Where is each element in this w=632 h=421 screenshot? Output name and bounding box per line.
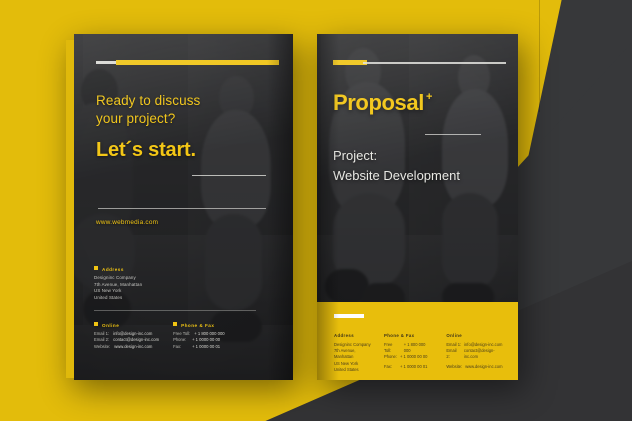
address-line: United States bbox=[94, 295, 279, 302]
online-heading: Online bbox=[94, 322, 159, 328]
project-name: Website Development bbox=[333, 166, 460, 186]
footer-phone-row: Fax: + 1 0000 00 01 bbox=[384, 364, 433, 370]
brochure-right-page: Proposal+ Project: Website Development A… bbox=[317, 34, 518, 380]
footer-online-key: Email 2: bbox=[446, 348, 461, 360]
proposal-title: Proposal+ bbox=[333, 90, 432, 116]
headline-line-2: your project? bbox=[96, 110, 277, 128]
address-line: US New York bbox=[94, 288, 279, 295]
online-key: Website: bbox=[94, 344, 110, 350]
footer-online-column: Online Email 1: info@design-inc.com Emai… bbox=[446, 333, 508, 373]
left-page-fold-shadow bbox=[267, 34, 293, 380]
right-page-top-rule bbox=[333, 60, 506, 65]
left-page-content: Ready to discuss your project? Let´s sta… bbox=[74, 34, 293, 380]
footer-online-row: Website: www.design-inc.com bbox=[446, 364, 508, 370]
right-page-content: Proposal+ Project: Website Development A… bbox=[317, 34, 518, 380]
phone-column: Phone & Fax Free Toll: + 1 800 000 000 P… bbox=[173, 322, 225, 350]
address-line: 7th Avenue, Manhattan bbox=[94, 282, 279, 289]
footer-phone-key: Free Toll: bbox=[384, 342, 401, 354]
online-heading-label: Online bbox=[102, 323, 119, 328]
contact-divider bbox=[94, 310, 256, 311]
footer-phone-value: + 1 0000 00 01 bbox=[400, 364, 427, 370]
footer-phone-value: + 1 0000 00 00 bbox=[400, 354, 427, 360]
footer-phone-key: Phone: bbox=[384, 354, 397, 360]
background-seam-line bbox=[539, 0, 540, 112]
right-page-fold-shadow bbox=[317, 34, 339, 380]
footer-online-row: Email 2: contact@design-inc.com bbox=[446, 348, 508, 360]
headline-emphasis: Let´s start. bbox=[96, 139, 277, 161]
footer-columns: Address Designinc Company 7th Avenue, Ma… bbox=[334, 333, 508, 373]
footer-address-line: United States bbox=[334, 367, 371, 373]
footer-address-heading: Address bbox=[334, 333, 371, 338]
left-page-headline: Ready to discuss your project? Let´s sta… bbox=[96, 92, 277, 161]
plus-icon: + bbox=[426, 91, 432, 103]
headline-rule bbox=[192, 175, 266, 176]
project-block: Project: Website Development bbox=[333, 146, 460, 186]
footer-online-key: Website: bbox=[446, 364, 462, 370]
right-page-footer: Address Designinc Company 7th Avenue, Ma… bbox=[317, 302, 518, 380]
brochure-left-page: Ready to discuss your project? Let´s sta… bbox=[74, 34, 293, 380]
left-page-top-rule bbox=[96, 60, 279, 65]
phone-key: Fax: bbox=[173, 344, 188, 350]
footer-phone-column: Phone & Fax Free Toll: + 1 800 000 000 P… bbox=[384, 333, 433, 373]
footer-address-column: Address Designinc Company 7th Avenue, Ma… bbox=[334, 333, 371, 373]
footer-phone-row: Free Toll: + 1 800 000 000 bbox=[384, 342, 433, 354]
bullet-square-icon bbox=[173, 322, 177, 326]
project-label: Project: bbox=[333, 146, 460, 166]
footer-phone-key: Fax: bbox=[384, 364, 397, 370]
bullet-square-icon bbox=[94, 266, 98, 270]
footer-phone-heading: Phone & Fax bbox=[384, 333, 433, 338]
phone-value: + 1 0000 00 01 bbox=[192, 344, 220, 350]
phone-heading: Phone & Fax bbox=[173, 322, 225, 328]
left-page-contact-block: Address Designinc Company 7th Avenue, Ma… bbox=[94, 266, 279, 301]
proposal-title-text: Proposal bbox=[333, 90, 424, 115]
footer-online-value[interactable]: www.design-inc.com bbox=[465, 364, 502, 370]
footer-address-line: 7th Avenue, Manhattan bbox=[334, 348, 371, 360]
contact-columns: Online Email 1: info@design-inc.com Emai… bbox=[94, 322, 284, 350]
headline-line-1: Ready to discuss bbox=[96, 92, 277, 110]
website-url[interactable]: www.webmedia.com bbox=[96, 219, 158, 226]
footer-phone-row: Phone: + 1 0000 00 00 bbox=[384, 354, 433, 360]
address-line: Designinc Company bbox=[94, 275, 279, 282]
footer-online-heading: Online bbox=[446, 333, 508, 338]
headline-rule-secondary bbox=[98, 208, 266, 209]
address-heading-label: Address bbox=[102, 267, 124, 272]
address-heading: Address bbox=[94, 266, 279, 272]
online-value[interactable]: www.design-inc.com bbox=[114, 344, 152, 350]
online-column: Online Email 1: info@design-inc.com Emai… bbox=[94, 322, 159, 350]
brochure-spread: Ready to discuss your project? Let´s sta… bbox=[66, 34, 518, 380]
bullet-square-icon bbox=[94, 322, 98, 326]
mockup-canvas: Ready to discuss your project? Let´s sta… bbox=[0, 0, 632, 421]
phone-row: Fax: + 1 0000 00 01 bbox=[173, 344, 225, 350]
footer-phone-value: + 1 800 000 000 bbox=[404, 342, 434, 354]
online-row: Website: www.design-inc.com bbox=[94, 344, 159, 350]
footer-online-value[interactable]: contact@design-inc.com bbox=[464, 348, 508, 360]
phone-heading-label: Phone & Fax bbox=[181, 323, 214, 328]
project-rule bbox=[425, 134, 481, 135]
